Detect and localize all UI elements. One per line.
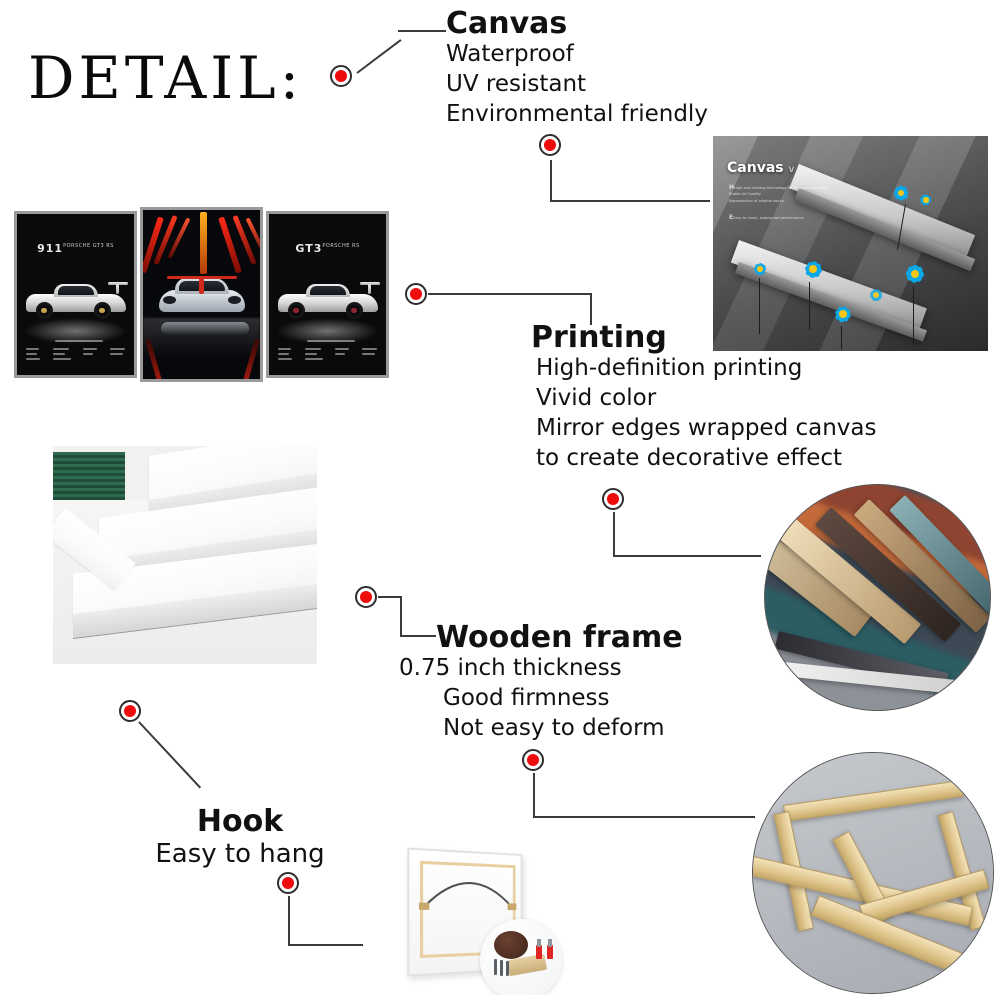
hook-felt-disc xyxy=(494,931,528,959)
connector-woodphoto-horizontal xyxy=(533,816,755,818)
hanging-kit-with-wire[interactable] xyxy=(382,833,582,995)
callout-canvas-head: Canvas xyxy=(446,8,708,40)
callout-wooden-frame-head: Wooden frame xyxy=(436,622,683,654)
poster-1-car xyxy=(24,276,128,322)
red-hook-2 xyxy=(547,945,553,959)
callout-canvas-line-2: UV resistant xyxy=(446,70,708,100)
callout-wooden-frame-line-3: Not easy to deform xyxy=(443,714,683,744)
connector-woodphoto-vertical xyxy=(533,773,535,818)
callout-hook: Hook Easy to hang xyxy=(144,806,336,872)
connector-wooden-horizontal-1 xyxy=(378,596,402,598)
flower-stem-4 xyxy=(759,278,760,334)
poster-panel-2[interactable] xyxy=(140,207,263,382)
poster-3-car xyxy=(276,276,380,322)
marker-dot-canvas[interactable] xyxy=(330,65,352,87)
callout-printing-line-1: High-definition printing xyxy=(536,354,877,384)
marker-dot-hook-photo[interactable] xyxy=(277,872,299,894)
flower-stem-3 xyxy=(913,286,914,346)
canvas-overlay-micro-4: EEasy to move, waterproof performance xyxy=(729,214,804,223)
marker-dot-printing[interactable] xyxy=(405,283,427,305)
poster-1-specs xyxy=(26,348,124,360)
mirror-edge-wrap-closeup[interactable] xyxy=(764,484,991,711)
poster-panel-3-model: GT3 xyxy=(295,242,322,255)
hook-hardware-bubble xyxy=(480,919,562,995)
porsche-poster-set[interactable]: 911PORSCHE GT3 RS xyxy=(14,207,389,382)
flower-1 xyxy=(888,180,914,206)
connector-hook-diagonal xyxy=(138,721,201,788)
poster-panel-3-title: GT3PORSCHE RS xyxy=(295,242,359,255)
stack-green-background xyxy=(53,452,125,500)
poster-3-specs xyxy=(278,348,376,360)
callout-canvas: Canvas Waterproof UV resistant Environme… xyxy=(446,8,708,130)
connector-wooden-horizontal-2 xyxy=(400,635,436,637)
connector-printing-horizontal xyxy=(428,293,592,295)
callout-printing-line-3: Mirror edges wrapped canvas xyxy=(536,414,877,444)
callout-printing-line-4: to create decorative effect xyxy=(536,444,877,474)
canvas-overlay-micro-2: Stable Art Quality xyxy=(729,192,761,197)
marker-dot-wooden-frame[interactable] xyxy=(355,586,377,608)
poster-2-car xyxy=(159,276,245,316)
connector-hookphoto-horizontal xyxy=(288,944,363,946)
screw-2 xyxy=(500,960,503,976)
callout-hook-head: Hook xyxy=(144,806,336,838)
connector-canvas-horizontal xyxy=(398,30,446,32)
marker-dot-wood-photo[interactable] xyxy=(522,749,544,771)
flower-3 xyxy=(798,254,828,284)
flower-4 xyxy=(749,258,771,280)
pine-stretcher-bars[interactable] xyxy=(752,752,994,994)
connector-mirrorphoto-horizontal xyxy=(613,555,761,557)
flower-5 xyxy=(899,258,931,290)
detail-infographic: DETAIL: Canvas Waterproof UV resistant E… xyxy=(0,0,1000,1000)
canvas-overlay-micro-3: Reproduction of original works xyxy=(729,199,784,204)
screw-1 xyxy=(494,959,497,975)
callout-canvas-line-3: Environmental friendly xyxy=(446,100,708,130)
page-title: DETAIL: xyxy=(28,44,303,112)
flower-stem-2 xyxy=(841,326,842,350)
connector-canvasphoto-vertical xyxy=(550,160,552,202)
connector-mirrorphoto-vertical xyxy=(613,512,615,557)
poster-panel-3[interactable]: GT3PORSCHE RS xyxy=(266,211,389,378)
connector-canvasphoto-horizontal xyxy=(550,200,710,202)
poster-panel-3-sub: PORSCHE RS xyxy=(322,243,359,249)
canvas-overlay-title-text: Canvas xyxy=(727,160,784,176)
poster-panel-1[interactable]: 911PORSCHE GT3 RS xyxy=(14,211,137,378)
connector-printing-vertical xyxy=(590,293,592,325)
canvas-overlay-micro-4-text: Easy to move, waterproof performance xyxy=(733,216,803,220)
callout-wooden-frame-line-2: Good firmness xyxy=(443,684,683,714)
canvas-photo-overlay-title: Canvas v xyxy=(727,160,794,176)
red-hook-1 xyxy=(536,945,542,959)
flower-2 xyxy=(916,190,936,210)
connector-wooden-vertical xyxy=(400,596,402,637)
callout-hook-line-1: Easy to hang xyxy=(144,838,336,872)
poster-panel-1-model: 911 xyxy=(37,242,63,255)
screw-3 xyxy=(506,961,509,976)
canvas-overlay-micro-1-text: High-end printing technology for museum … xyxy=(734,186,828,190)
marker-dot-hook[interactable] xyxy=(119,700,141,722)
canvas-flower-closeup[interactable]: Canvas v HHigh-end printing technology f… xyxy=(713,136,988,351)
callout-wooden-frame: Wooden frame 0.75 inch thickness Good fi… xyxy=(399,622,683,744)
poster-panel-1-sub: PORSCHE GT3 RS xyxy=(63,243,114,249)
poster-panel-1-title: 911PORSCHE GT3 RS xyxy=(37,242,114,255)
callout-printing-line-2: Vivid color xyxy=(536,384,877,414)
flower-6 xyxy=(829,300,857,328)
callout-wooden-frame-line-1: 0.75 inch thickness xyxy=(399,654,683,684)
chevron-down-icon: v xyxy=(788,164,794,175)
callout-canvas-line-1: Waterproof xyxy=(446,40,708,70)
white-canvas-stack[interactable] xyxy=(53,446,317,664)
flower-stem-1 xyxy=(809,282,810,330)
connector-canvas-diagonal xyxy=(356,39,401,74)
marker-dot-mirror-photo[interactable] xyxy=(602,488,624,510)
marker-dot-canvas-photo[interactable] xyxy=(539,134,561,156)
flower-7 xyxy=(865,284,887,306)
connector-hookphoto-vertical xyxy=(288,896,290,946)
